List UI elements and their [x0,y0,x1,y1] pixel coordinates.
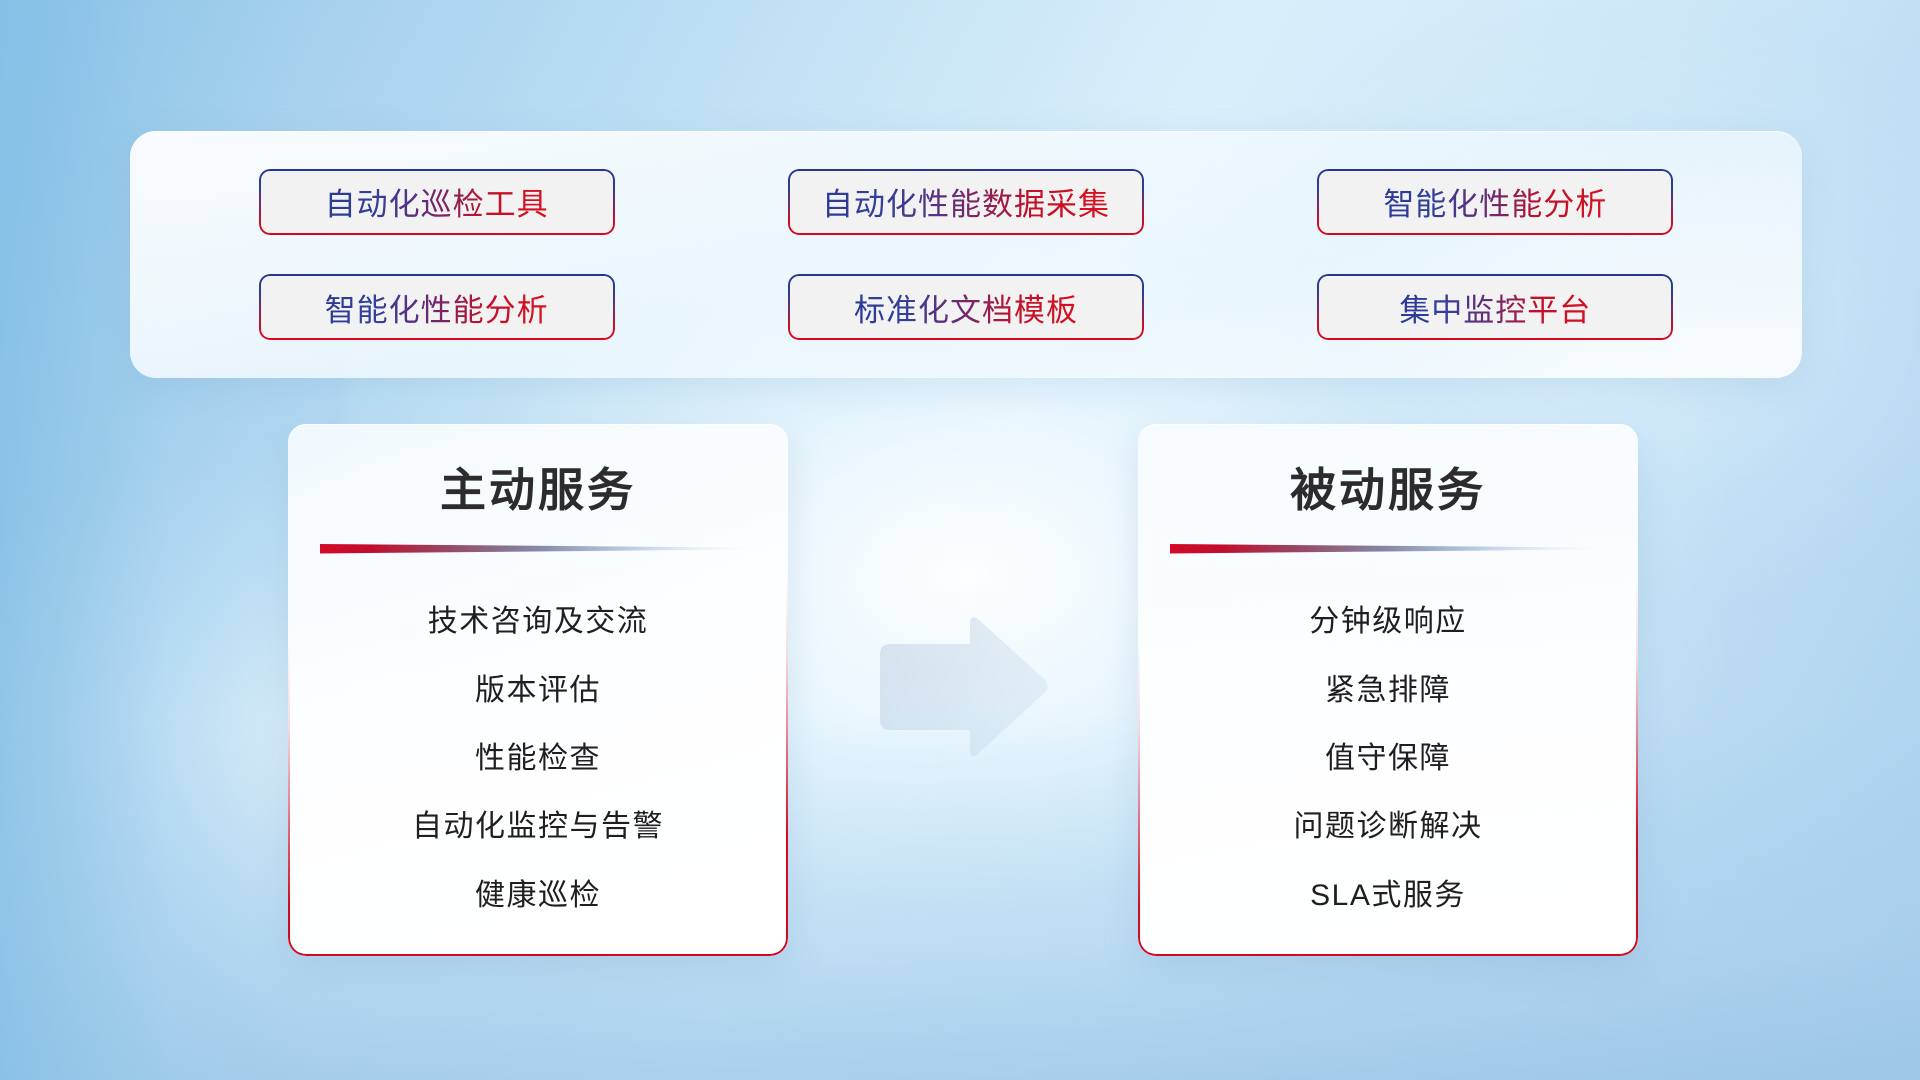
service-card-proactive[interactable]: 主动服务 技术咨询及交流 版本评估 性能检查 自动化监控与告警 健康巡检 [288,424,788,956]
capability-tag-5[interactable]: 标准化文档模板 [788,274,1144,340]
card-list-item: SLA式服务 [1310,870,1466,914]
card-title-divider [1170,542,1606,556]
card-title: 主动服务 [288,454,788,520]
diagram-stage: 自动化巡检工具 自动化性能数据采集 智能化性能分析 智能化性能分析 标准化文档模… [0,0,1920,1080]
capability-tags-grid: 自动化巡检工具 自动化性能数据采集 智能化性能分析 智能化性能分析 标准化文档模… [130,131,1802,378]
capability-tag-label: 智能化性能分析 [1383,179,1607,224]
card-item-list: 分钟级响应 紧急排障 值守保障 问题诊断解决 SLA式服务 [1138,572,1638,938]
card-title: 被动服务 [1138,454,1638,520]
capability-tag-3[interactable]: 智能化性能分析 [1317,169,1673,235]
capability-tag-label: 自动化性能数据采集 [822,179,1110,224]
card-list-item: 技术咨询及交流 [428,596,649,640]
card-list-item: 分钟级响应 [1309,596,1467,640]
capability-tag-1[interactable]: 自动化巡检工具 [259,169,615,235]
capability-tag-label: 智能化性能分析 [325,285,549,330]
capability-tag-2[interactable]: 自动化性能数据采集 [788,169,1144,235]
card-list-item: 值守保障 [1325,733,1451,777]
capability-tag-label: 标准化文档模板 [854,285,1078,330]
card-list-item: 性能检查 [475,733,601,777]
capability-tag-label: 自动化巡检工具 [325,179,549,224]
card-list-item: 健康巡检 [475,870,601,914]
card-list-item: 紧急排障 [1325,665,1451,709]
arrow-right-icon [872,614,1050,760]
card-list-item: 自动化监控与告警 [412,801,664,845]
capability-tags-panel: 自动化巡检工具 自动化性能数据采集 智能化性能分析 智能化性能分析 标准化文档模… [130,131,1802,378]
card-item-list: 技术咨询及交流 版本评估 性能检查 自动化监控与告警 健康巡检 [288,572,788,938]
card-title-divider [320,542,756,556]
card-list-item: 版本评估 [475,665,601,709]
card-list-item: 问题诊断解决 [1294,801,1483,845]
capability-tag-label: 集中监控平台 [1399,285,1591,330]
capability-tag-4[interactable]: 智能化性能分析 [259,274,615,340]
capability-tag-6[interactable]: 集中监控平台 [1317,274,1673,340]
service-card-reactive[interactable]: 被动服务 分钟级响应 紧急排障 值守保障 问题诊断解决 SLA式服务 [1138,424,1638,956]
